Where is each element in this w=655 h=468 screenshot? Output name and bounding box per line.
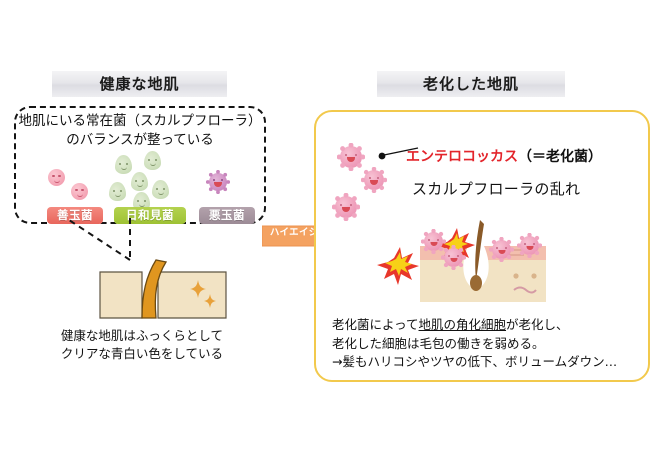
good-bacteria-character [71,183,88,200]
aged-caption-line-1: 老化菌によって地肌の角化細胞が老化し、 [332,316,642,335]
enterococcus-gloss: （＝老化菌） [518,149,602,165]
enterococcus-character [340,146,362,168]
legend-chip-bad-bacteria: 悪玉菌 [199,207,255,224]
aged-panel-title: 老化した地肌 [377,71,565,97]
aged-scalp-illustration [376,218,564,310]
opportunistic-bacteria-character [152,180,169,199]
good-bacteria-character [48,169,65,186]
infographic-canvas: 健康な地肌 地肌にいる常在菌（スカルプフローラ） のバランスが整っている 善玉菌… [0,0,655,468]
enterococcus-term: エンテロコッカス [406,149,518,165]
opportunistic-bacteria-character [115,155,132,174]
healthy-description-text: 地肌にいる常在菌（スカルプフローラ） のバランスが整っている [16,112,264,150]
aged-caption-underlined-term: 地肌の角化細胞 [419,317,507,332]
enterococcus-character [520,236,539,255]
flora-disorder-subtitle: スカルプフローラの乱れ [412,178,580,199]
aged-caption-line-1-suffix: が老化し、 [506,317,569,332]
opportunistic-bacteria-character [109,182,126,201]
aged-caption-line-2: 老化した細胞は毛包の働きを弱める。 [332,335,642,354]
enterococcus-character [364,170,384,190]
enterococcus-character [335,196,357,218]
aged-caption-line-3: →髪もハリコシやツヤの低下、ボリュームダウン… [332,353,642,372]
aged-scalp-caption: 老化菌によって地肌の角化細胞が老化し、 老化した細胞は毛包の働きを弱める。 →髪… [332,316,642,372]
enterococcus-character [444,248,463,267]
sparkle-icon [188,278,220,312]
opportunistic-bacteria-character [131,172,148,191]
enterococcus-callout-label: エンテロコッカス（＝老化菌） [406,146,602,166]
healthy-panel-title: 健康な地肌 [52,71,227,97]
aged-caption-line-1-prefix: 老化菌によって [332,317,419,332]
healthy-scalp-caption: 健康な地肌はふっくらとして クリアな青白い色をしている [28,327,256,363]
opportunistic-bacteria-character [144,151,161,170]
enterococcus-character [492,240,511,259]
bad-bacteria-character [209,173,227,191]
